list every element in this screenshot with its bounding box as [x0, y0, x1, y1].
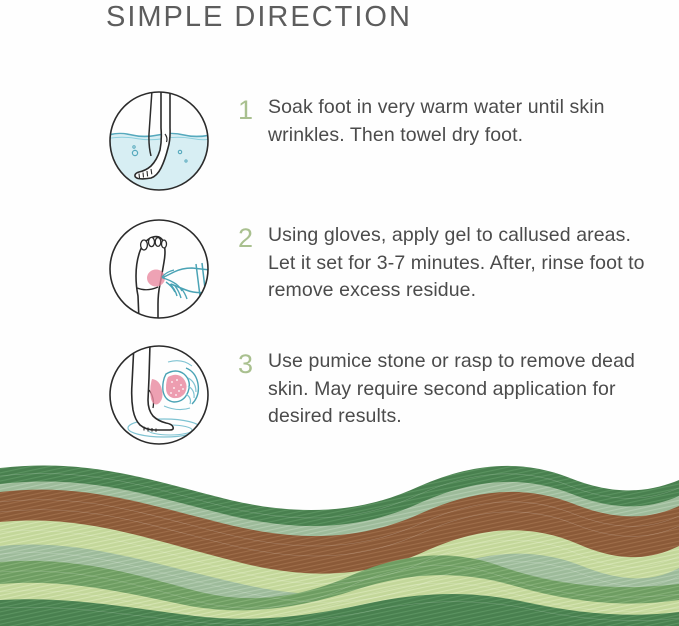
steps-list: 1 Soak foot in very warm water until ski… — [0, 90, 679, 452]
foot-soaking-in-water-icon — [108, 90, 210, 192]
step-item: 2 Using gloves, apply gel to callused ar… — [0, 218, 679, 326]
step-item: 1 Soak foot in very warm water until ski… — [0, 90, 679, 198]
pumice-stone-scrubbing-foot-icon — [108, 344, 210, 446]
step-description: Using gloves, apply gel to callused area… — [268, 222, 647, 305]
instruction-card: SIMPLE DIRECTION — [0, 0, 679, 626]
page-title: SIMPLE DIRECTION — [106, 0, 412, 34]
layered-wave-landscape-band — [0, 456, 679, 626]
gloved-hand-applying-gel-icon — [108, 218, 210, 320]
step-number: 2 — [238, 223, 268, 253]
step-description: Soak foot in very warm water until skin … — [268, 94, 647, 149]
step-item: 3 Use pumice stone or rasp to remove dea… — [0, 344, 679, 452]
step-description: Use pumice stone or rasp to remove dead … — [268, 348, 647, 431]
step-number: 3 — [238, 349, 268, 379]
step-number: 1 — [238, 95, 268, 125]
